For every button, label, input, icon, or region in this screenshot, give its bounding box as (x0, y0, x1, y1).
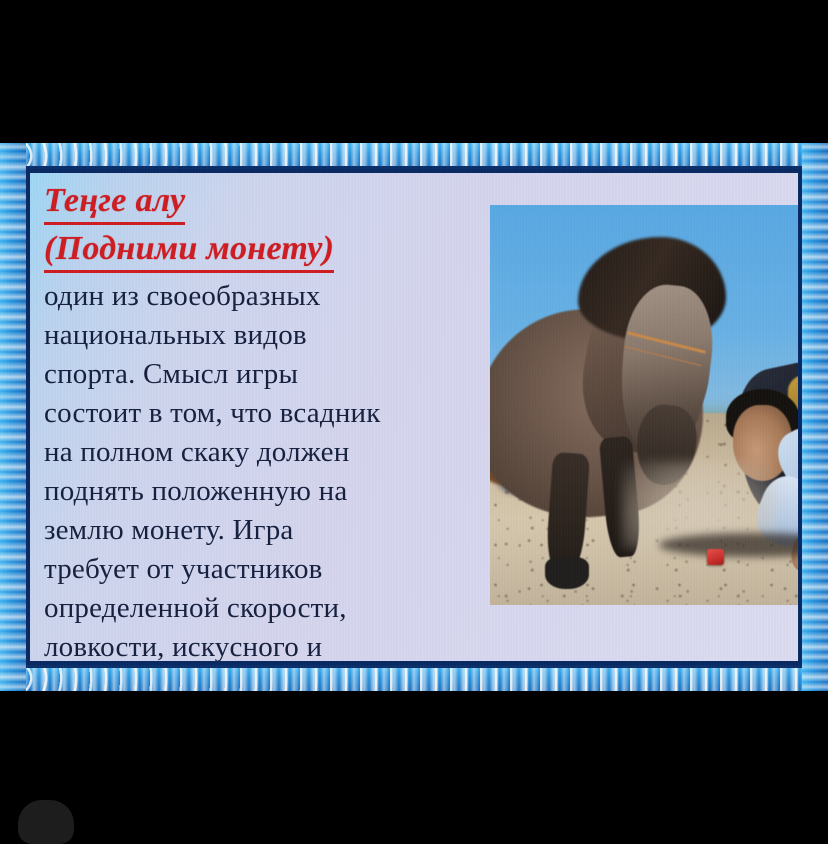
slide-content-area: Теңге алу (Подними монету) один из своео… (30, 173, 798, 661)
ornament-band-bottom-icon (0, 665, 828, 691)
screen-photo-capture: Теңге алу (Подними монету) один из своео… (0, 0, 828, 828)
body-line-5: на полном скаку должен (44, 433, 524, 472)
photo-coin-marker (707, 549, 724, 565)
body-line-10: ловкости, искусного и (44, 628, 524, 661)
body-line-2: национальных видов (44, 316, 524, 355)
body-line-9: определенной скорости, (44, 589, 524, 628)
slide-title: Теңге алу (Подними монету) (44, 181, 524, 273)
photo-scene (490, 205, 798, 605)
ornament-band-left-icon (0, 143, 26, 691)
body-line-1: один из своеобразных (44, 277, 524, 316)
presentation-slide: Теңге алу (Подними монету) один из своео… (0, 143, 828, 691)
slide-photograph (490, 205, 798, 605)
ornament-band-top-icon (0, 143, 828, 169)
slide-text-column: Теңге алу (Подними монету) один из своео… (44, 181, 524, 661)
bottom-left-ui-blob (18, 800, 74, 844)
body-line-4: состоит в том, что всадник (44, 394, 524, 433)
body-line-7: землю монету. Игра (44, 511, 524, 550)
body-line-8: требует от участников (44, 550, 524, 589)
body-line-3: спорта. Смысл игры (44, 355, 524, 394)
photo-horse-hoof (545, 557, 589, 589)
slide-title-line-2: (Подними монету) (44, 229, 334, 273)
ornament-band-right-icon (802, 143, 828, 691)
slide-title-line-1: Теңге алу (44, 181, 185, 225)
body-line-6: поднять положенную на (44, 472, 524, 511)
slide-body-text: один из своеобразных национальных видов … (44, 277, 524, 661)
